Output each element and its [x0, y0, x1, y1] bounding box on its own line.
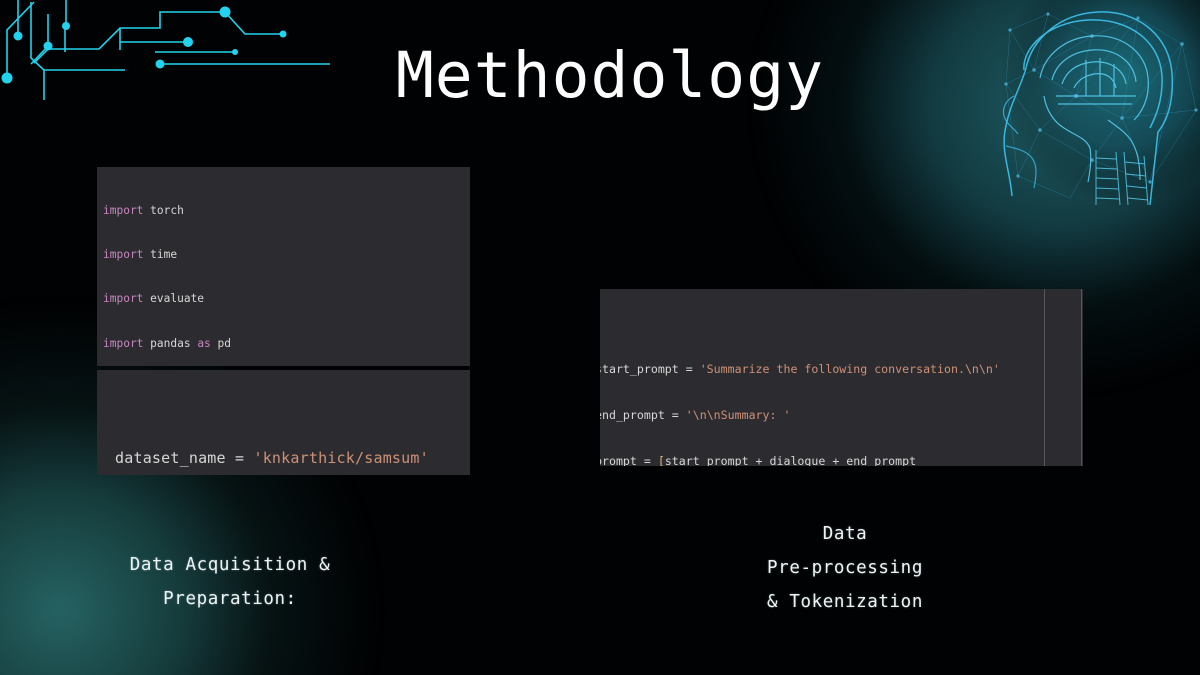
code-line: prompt = [start_prompt + dialogue + end_…: [600, 454, 1083, 466]
caption-line: Preparation:: [75, 582, 385, 616]
code-line: end_prompt = '\n\nSummary: ': [600, 408, 1083, 423]
code-line: dataset_name = 'knkarthick/samsum': [115, 444, 470, 472]
caption-line: Pre-processing: [700, 551, 990, 585]
caption-line: Data Acquisition &: [75, 548, 385, 582]
editor-guide-line: [1044, 289, 1045, 466]
caption-data-acquisition: Data Acquisition & Preparation:: [75, 548, 385, 616]
page-title: Methodology: [0, 44, 1200, 107]
editor-guide-line: [1081, 289, 1082, 466]
imports-code-block[interactable]: import torch import time import evaluate…: [97, 167, 470, 366]
slide-canvas: Methodology import torch import time imp…: [0, 0, 1200, 675]
caption-line: & Tokenization: [700, 585, 990, 619]
config-code-block[interactable]: dataset_name = 'knkarthick/samsum' model…: [97, 370, 470, 475]
code-line: start_prompt = 'Summarize the following …: [600, 362, 1083, 377]
caption-preprocessing: Data Pre-processing & Tokenization: [700, 517, 990, 619]
code-line: import time: [103, 248, 470, 263]
code-line: import torch: [103, 204, 470, 219]
code-line: import evaluate: [103, 292, 470, 307]
preprocessing-code-block[interactable]: start_prompt = 'Summarize the following …: [600, 289, 1083, 466]
caption-line: Data: [700, 517, 990, 551]
code-line: import pandas as pd: [103, 337, 470, 352]
